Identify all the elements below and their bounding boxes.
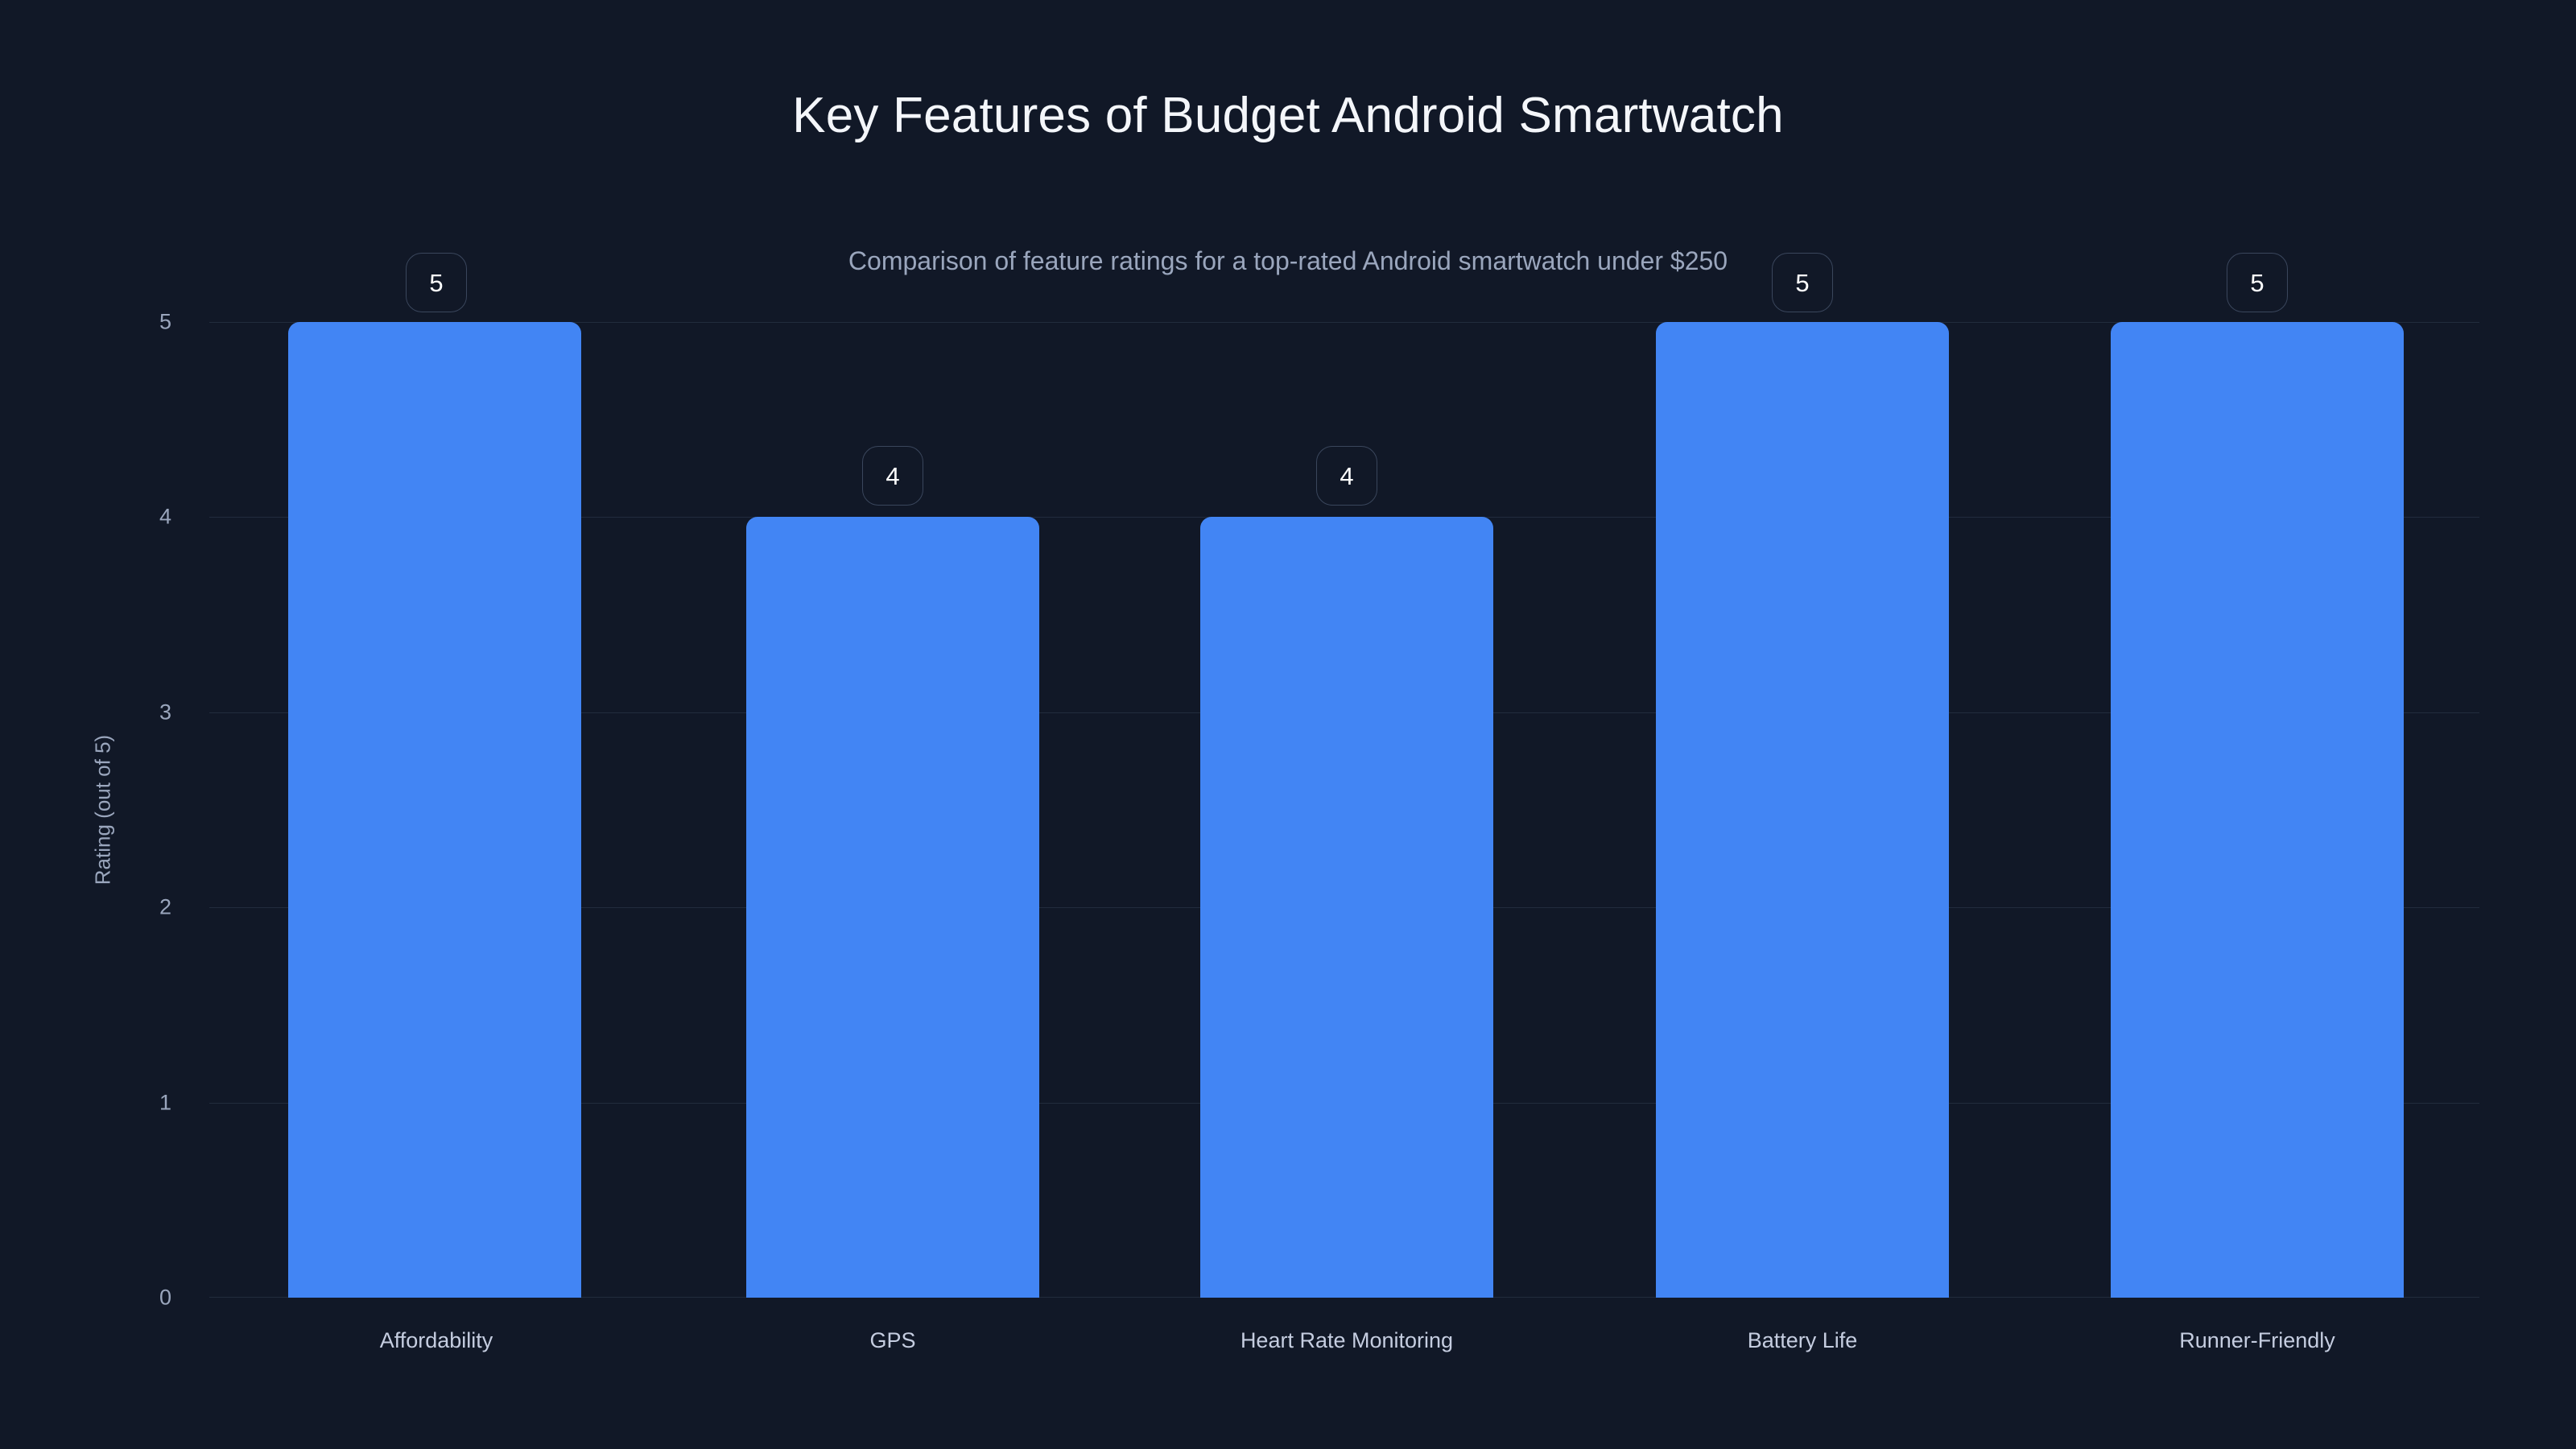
x-label-battery-life: Battery Life <box>1748 1328 1858 1353</box>
chart-subtitle: Comparison of feature ratings for a top-… <box>0 246 2576 276</box>
bar-affordability[interactable] <box>288 322 581 1298</box>
value-badge-gps: 4 <box>862 446 923 506</box>
bar-group-runner-friendly[interactable] <box>2111 322 2404 1298</box>
bar-runner-friendly[interactable] <box>2111 322 2404 1298</box>
y-axis-tick-labels: 5 4 3 2 1 0 <box>0 322 189 1298</box>
y-tick-5: 5 <box>159 310 171 335</box>
y-tick-0: 0 <box>159 1286 171 1311</box>
value-badge-runner-friendly: 5 <box>2227 253 2288 312</box>
value-badge-affordability: 5 <box>406 253 467 312</box>
y-tick-4: 4 <box>159 505 171 530</box>
value-badge-heart-rate-monitoring: 4 <box>1316 446 1377 506</box>
bar-battery-life[interactable] <box>1656 322 1949 1298</box>
x-label-affordability: Affordability <box>380 1328 493 1353</box>
y-tick-3: 3 <box>159 700 171 724</box>
chart-title: Key Features of Budget Android Smartwatc… <box>0 89 2576 143</box>
value-badge-battery-life: 5 <box>1772 253 1833 312</box>
bar-gps[interactable] <box>746 517 1039 1298</box>
x-label-runner-friendly: Runner-Friendly <box>2179 1328 2335 1353</box>
bar-group-battery-life[interactable] <box>1656 322 1949 1298</box>
x-label-heart-rate-monitoring: Heart Rate Monitoring <box>1241 1328 1453 1353</box>
y-tick-1: 1 <box>159 1090 171 1115</box>
bar-heart-rate-monitoring[interactable] <box>1200 517 1493 1298</box>
bar-group-affordability[interactable] <box>288 322 581 1298</box>
chart-container: Key Features of Budget Android Smartwatc… <box>0 0 2576 1449</box>
x-label-gps: GPS <box>869 1328 915 1353</box>
y-tick-2: 2 <box>159 895 171 920</box>
